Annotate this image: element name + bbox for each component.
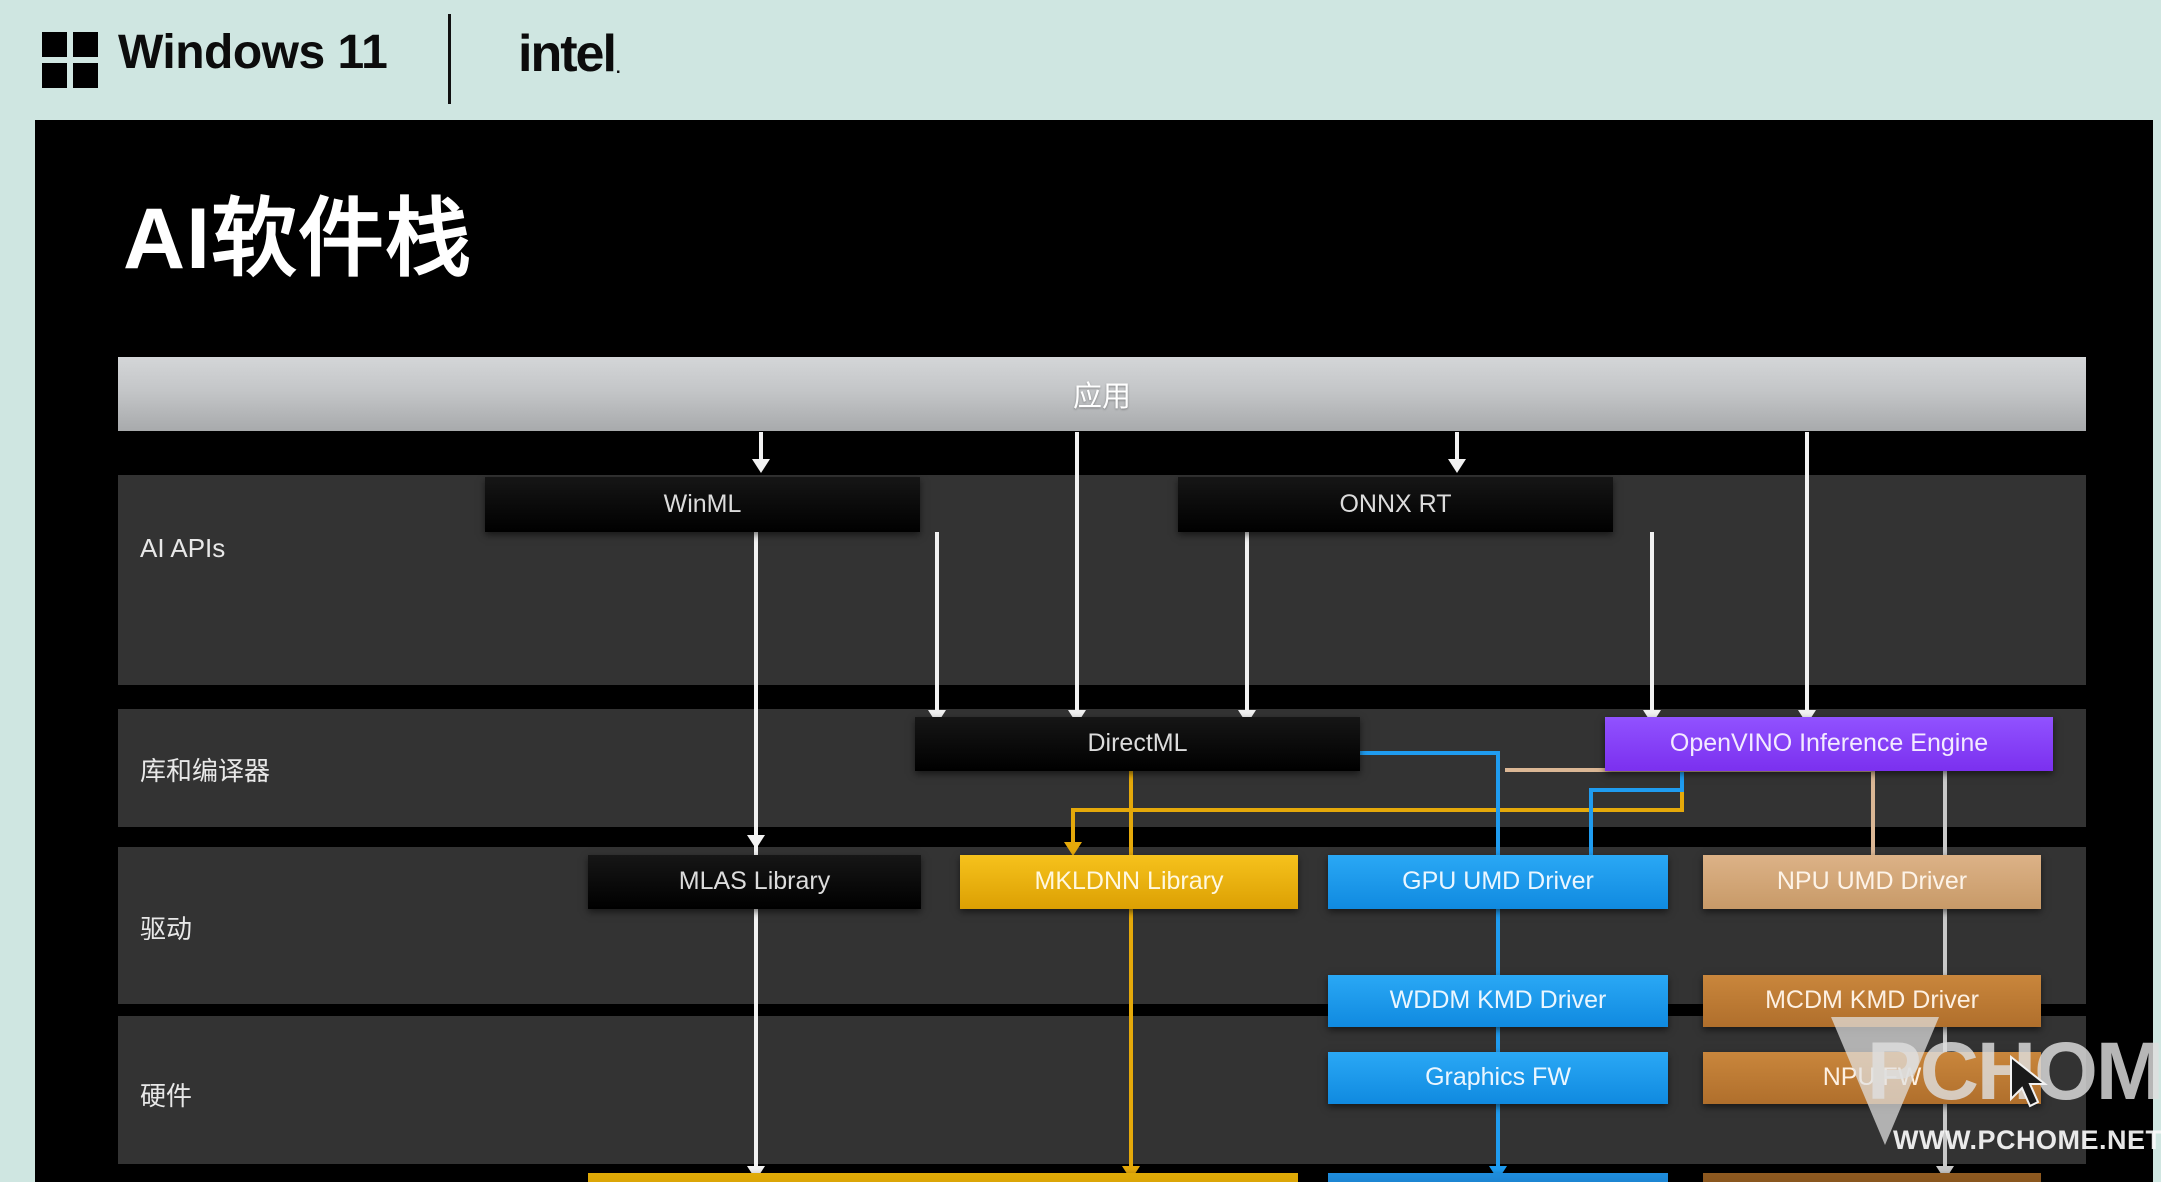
node-npu-fw[interactable]: NPU FW: [1703, 1052, 2041, 1104]
application-node-label: 应用: [118, 373, 2086, 415]
intel-wordmark: intel.: [518, 24, 618, 84]
row-label-libraries: 库和编译器: [140, 751, 270, 788]
node-onnx-rt[interactable]: ONNX RT: [1178, 477, 1613, 532]
row-label-hardware: 硬件: [140, 1076, 192, 1113]
row-label-drivers: 驱动: [140, 909, 192, 946]
node-npu-umd-driver[interactable]: NPU UMD Driver: [1703, 855, 2041, 909]
screenshot-root: Windows 11 intel. AI软件栈 应用 AI APIs 库和编译器…: [0, 0, 2161, 1182]
intel-registered-mark: .: [616, 58, 619, 77]
node-gpu[interactable]: GPU: [1328, 1173, 1668, 1182]
node-wddm-kmd-driver[interactable]: WDDM KMD Driver: [1328, 975, 1668, 1027]
node-mcdm-kmd-driver[interactable]: MCDM KMD Driver: [1703, 975, 2041, 1027]
node-mkldnn-library[interactable]: MKLDNN Library: [960, 855, 1298, 909]
node-directml[interactable]: DirectML: [915, 717, 1360, 771]
intel-text: intel: [518, 25, 615, 83]
slide-panel: AI软件栈 应用 AI APIs 库和编译器 驱动 硬件: [35, 120, 2153, 1182]
node-winml[interactable]: WinML: [485, 477, 920, 532]
node-graphics-fw[interactable]: Graphics FW: [1328, 1052, 1668, 1104]
brand-header: Windows 11 intel.: [0, 0, 2161, 120]
node-openvino-inference-engine[interactable]: OpenVINO Inference Engine: [1605, 717, 2053, 771]
node-mlas-library[interactable]: MLAS Library: [588, 855, 921, 909]
row-application: 应用: [118, 357, 2086, 431]
windows-logo-icon: [42, 32, 98, 88]
page-title: AI软件栈: [123, 168, 472, 293]
node-gpu-umd-driver[interactable]: GPU UMD Driver: [1328, 855, 1668, 909]
node-npu[interactable]: NPU: [1703, 1173, 2041, 1182]
vertical-divider-icon: [448, 14, 451, 104]
node-cpu[interactable]: CPU: [588, 1173, 1298, 1182]
row-ai-apis: AI APIs: [118, 475, 2086, 685]
windows-wordmark: Windows 11: [118, 25, 387, 80]
row-label-ai-apis: AI APIs: [140, 533, 225, 564]
